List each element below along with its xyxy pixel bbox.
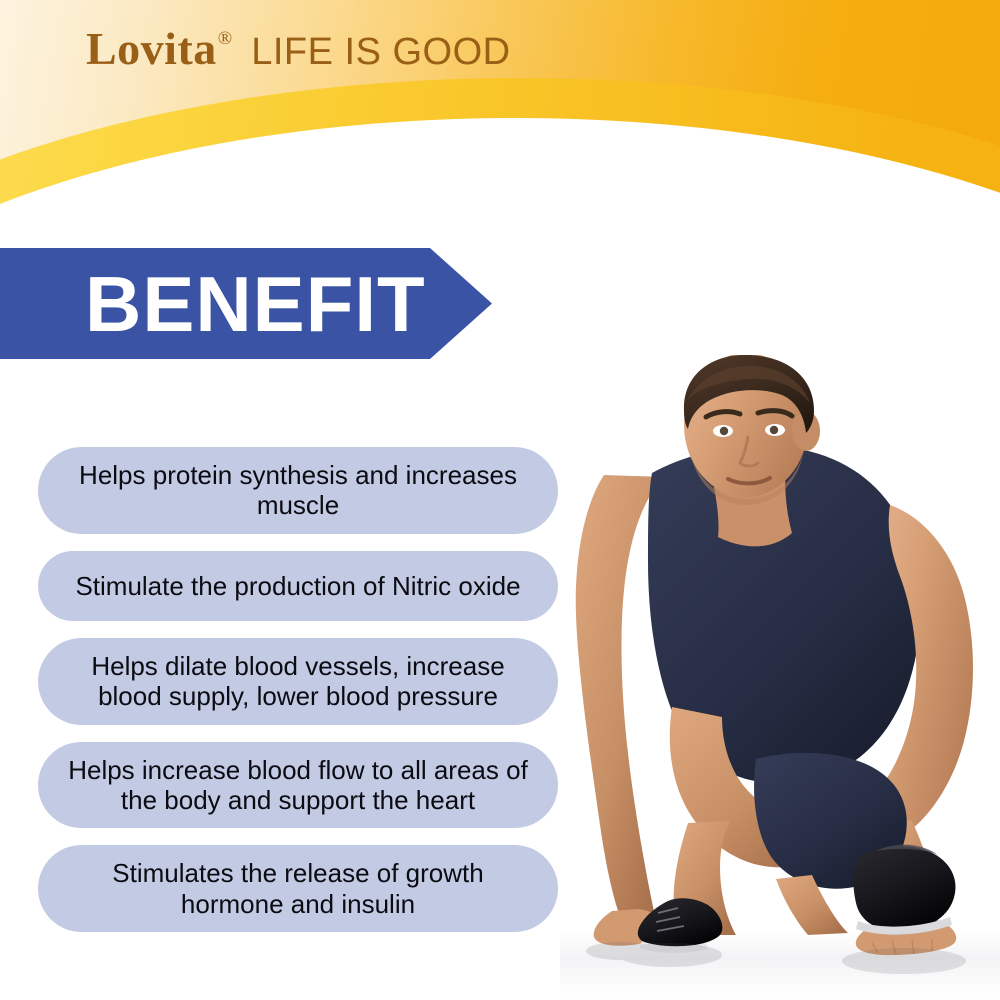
- benefit-pill: Helps increase blood flow to all areas o…: [38, 742, 558, 829]
- benefit-pill: Helps dilate blood vessels, increase blo…: [38, 638, 558, 725]
- benefit-list: Helps protein synthesis and increases mu…: [38, 447, 558, 949]
- registered-trademark-icon: ®: [218, 28, 232, 50]
- section-title: BENEFIT: [85, 248, 426, 359]
- benefit-pill-label: Helps dilate blood vessels, increase blo…: [64, 651, 532, 712]
- brand-tagline: LIFE IS GOOD: [251, 33, 510, 71]
- left-pupil: [720, 427, 728, 435]
- brand-logo: Lovita ® LIFE IS GOOD: [86, 26, 511, 72]
- athlete-photo: [560, 355, 1000, 1000]
- benefit-pill: Helps protein synthesis and increases mu…: [38, 447, 558, 534]
- benefit-pill-label: Stimulates the release of growth hormone…: [64, 858, 532, 919]
- benefit-section-banner: BENEFIT: [0, 248, 492, 359]
- right-shoe: [853, 846, 955, 931]
- right-pupil: [770, 426, 778, 434]
- benefit-pill-label: Helps increase blood flow to all areas o…: [64, 755, 532, 816]
- benefit-pill-label: Helps protein synthesis and increases mu…: [64, 460, 532, 521]
- benefit-pill: Stimulates the release of growth hormone…: [38, 845, 558, 932]
- benefit-pill: Stimulate the production of Nitric oxide: [38, 551, 558, 621]
- brand-name: Lovita: [86, 26, 217, 72]
- product-benefit-infographic: Lovita ® LIFE IS GOOD BENEFIT Helps prot…: [0, 0, 1000, 1000]
- benefit-pill-label: Stimulate the production of Nitric oxide: [75, 571, 520, 601]
